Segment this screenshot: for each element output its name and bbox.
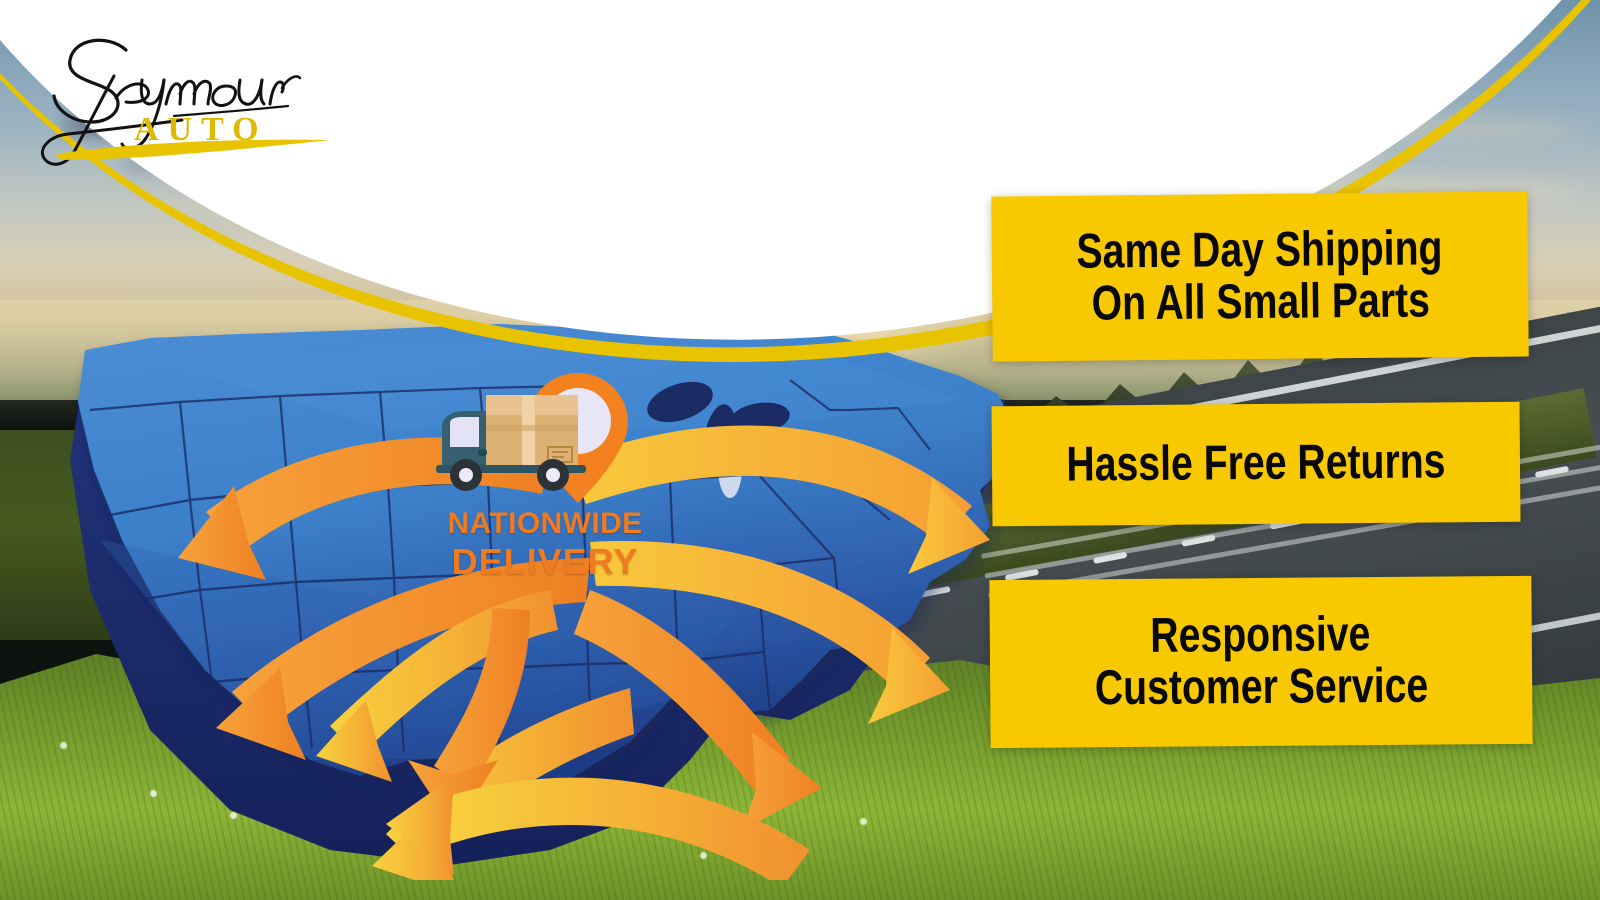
nationwide-delivery-badge: NATIONWIDE DELIVERY: [430, 365, 660, 585]
delivery-caption-line-1: NATIONWIDE: [430, 507, 660, 541]
claim-line: On All Small Parts: [1091, 275, 1430, 330]
cardboard-box-icon: [486, 395, 578, 469]
claim-line: Same Day Shipping: [1077, 223, 1443, 278]
delivery-caption-line-2: DELIVERY: [430, 541, 660, 583]
promo-banner: NATIONWIDE DELIVERY: [0, 0, 1600, 900]
claim-box-hassle-free-returns[interactable]: Hassle Free Returns: [991, 402, 1520, 527]
claim-line: Customer Service: [1094, 661, 1428, 716]
claim-box-same-day-shipping[interactable]: Same Day Shipping On All Small Parts: [991, 191, 1529, 361]
seymour-auto-logo[interactable]: AUTO: [30, 18, 340, 168]
logo-swoosh: [56, 140, 330, 160]
claim-line: Responsive: [1151, 609, 1371, 663]
route-arrow: [430, 778, 810, 880]
claim-line: Hassle Free Returns: [1066, 436, 1446, 491]
claim-box-responsive-customer-service[interactable]: Responsive Customer Service: [989, 576, 1532, 748]
delivery-illustration: [430, 365, 660, 510]
